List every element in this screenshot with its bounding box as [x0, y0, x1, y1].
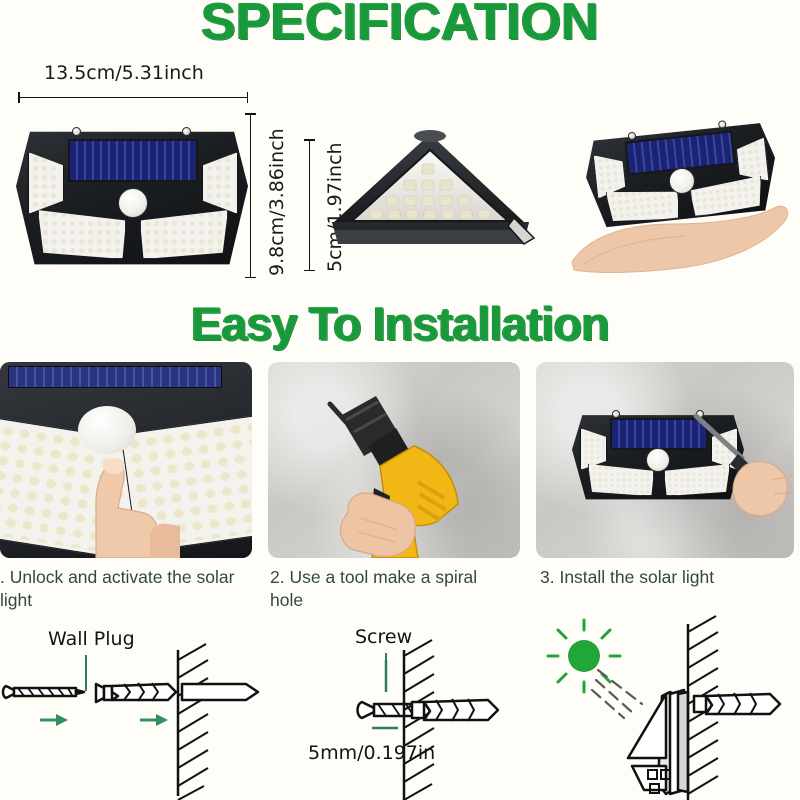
solar-panel	[68, 139, 198, 182]
mount-hole-right	[182, 127, 191, 136]
product-image-front-view	[16, 108, 248, 278]
motion-sensor	[118, 188, 148, 218]
dimension-label-width: 13.5cm/5.31inch	[44, 62, 204, 84]
dimension-line-depth	[309, 139, 310, 271]
screw-depth-measure	[372, 660, 398, 728]
page-title-installation: Easy To Installation	[0, 296, 800, 351]
product-specification-page: SPECIFICATION 13.5cm/5.31inch 9.8cm/3.86…	[0, 0, 800, 800]
step-image-3	[536, 362, 794, 558]
page-title-specification: SPECIFICATION	[0, 0, 800, 52]
step-caption-3: 3. Install the solar light	[540, 566, 790, 589]
wall-hatching-left	[178, 644, 208, 800]
dimension-line-width	[18, 97, 248, 98]
finger-pressing-icon	[0, 362, 252, 558]
screw-label: Screw	[355, 626, 412, 648]
dimension-label-height: 9.8cm/3.86inch	[266, 128, 288, 276]
product-image-side-view	[318, 126, 543, 256]
step-caption-2: 2. Use a tool make a spiral hole	[270, 566, 515, 612]
dimension-line-height	[250, 113, 251, 278]
wall-plug-insertion-diagram	[0, 650, 260, 800]
sunlight-rays	[592, 670, 642, 718]
step-image-2	[268, 362, 520, 558]
screwdriver-and-hand-icon	[536, 362, 794, 558]
screw-depth-diagram	[300, 650, 520, 800]
wall-plug-label: Wall Plug	[48, 628, 135, 650]
step-caption-1: . Unlock and activate the solar light	[0, 566, 250, 612]
step-image-1	[0, 362, 252, 558]
sun-icon	[548, 620, 620, 692]
arrow-insert-2	[140, 714, 168, 726]
product-image-hand-scale	[560, 112, 795, 287]
sunlight-mounting-diagram	[530, 618, 800, 800]
power-drill-icon	[268, 362, 520, 558]
mount-hole-left	[72, 127, 81, 136]
arrow-insert-1	[40, 714, 68, 726]
side-view-shape	[318, 126, 543, 256]
